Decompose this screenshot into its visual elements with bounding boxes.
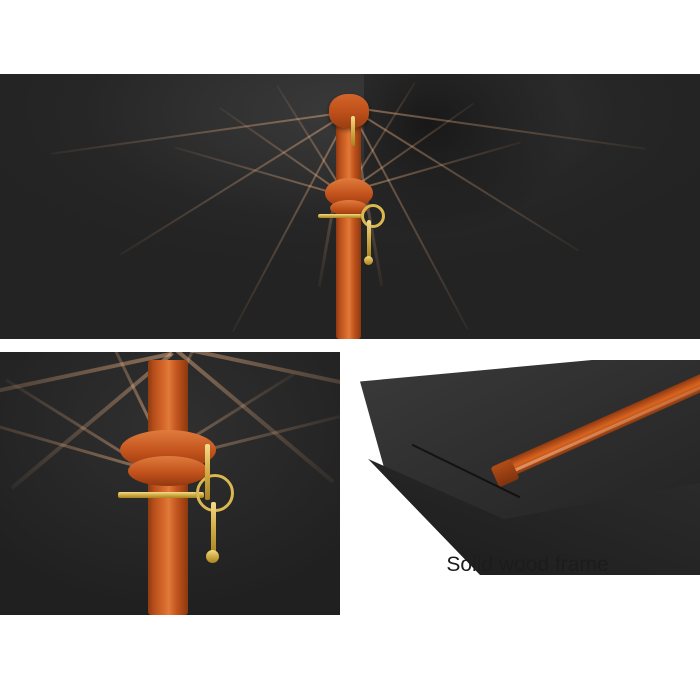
divider-vertical (340, 339, 352, 629)
caption-solid-wood-frame: Solid wood frame (355, 552, 700, 578)
panel-secure-locking: Secure locking (0, 352, 340, 615)
divider-bottom (0, 615, 700, 700)
feature-collage: Durable construction 8-rib support for A… (0, 0, 700, 700)
divider-top (0, 0, 700, 74)
brass-cord-icon (351, 116, 355, 146)
umbrella-pole (148, 360, 188, 615)
brass-chain-icon (205, 444, 210, 500)
umbrella-runner-collar (128, 456, 208, 486)
brass-locking-pin-icon (318, 214, 364, 218)
brass-chain-end-icon (206, 550, 219, 563)
brass-chain-icon (367, 220, 371, 258)
brass-ring-icon (361, 204, 385, 228)
brass-locking-pin-icon (118, 492, 204, 498)
brass-chain-icon (211, 502, 216, 554)
brass-chain-end-icon (364, 256, 373, 265)
umbrella-hub-icon (329, 94, 369, 128)
panel-durable-construction: Durable construction 8-rib support for A… (0, 74, 700, 339)
umbrella-pole (336, 108, 361, 339)
